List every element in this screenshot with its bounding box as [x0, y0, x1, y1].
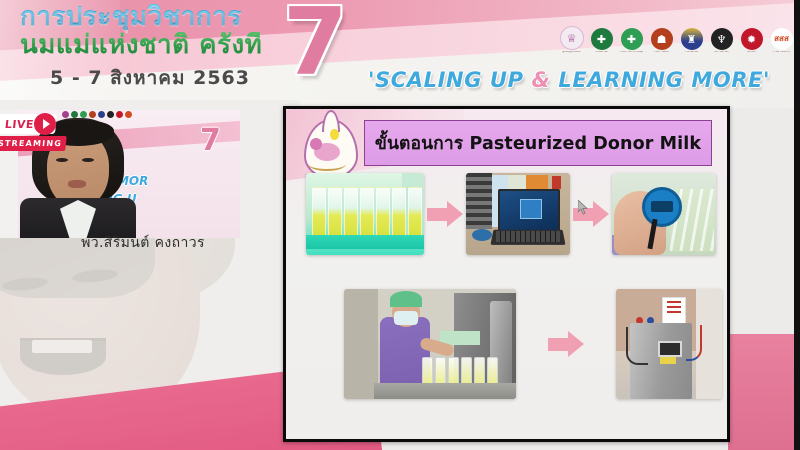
logo-caption: สมาคม	[747, 51, 755, 54]
logo-caption: กรมอนามัย	[595, 51, 608, 54]
process-row-bottom	[344, 289, 722, 399]
speaker-name-caption: พว.สิริมนต์ คงถาวร	[18, 232, 268, 254]
process-arrow-icon	[548, 331, 584, 357]
logo-caption: กระทรวงสาธารณสุข	[620, 51, 643, 54]
pink-accent-right	[728, 334, 800, 450]
presentation-slide: THAILAND HUMAN MILK BANK ขั้นตอนการ Past…	[286, 109, 727, 439]
logo-red-seal-icon: ✹	[741, 28, 763, 50]
streaming-label: STREAMING	[0, 136, 67, 151]
logo-caption: กรมการแพทย์	[654, 51, 670, 54]
logo-university-icon: ♆	[711, 28, 733, 50]
conference-tagline: 'SCALING UP & LEARNING MORE'	[368, 68, 770, 92]
logo-thaihealth-icon: สสส	[771, 28, 793, 50]
edition-number-7: 7	[283, 0, 348, 89]
conference-title-line2: นมแม่แห่งชาติ ครั้งที่	[20, 32, 310, 59]
sponsor-logo: ♆ มหาวิทยาลัย	[709, 28, 734, 54]
poster-logo-strip	[62, 111, 132, 118]
tagline-part-2: LEARNING MORE'	[550, 68, 770, 92]
mouse-cursor-icon	[578, 200, 589, 215]
logo-ministry-health-2-icon: ✚	[621, 28, 643, 50]
logo-caption: มหาวิทยาลัย	[714, 51, 728, 54]
tagline-ampersand: &	[532, 68, 551, 92]
logo-royal-college-icon: ♜	[681, 28, 703, 50]
photo-nurse-loading-bottles	[344, 289, 516, 399]
sponsor-logo: ♜ ราชวิทยาลัย	[679, 28, 704, 54]
conference-title-line1: การประชุมวิชาการ	[20, 4, 310, 30]
logo-thai-emblem-icon: ☗	[651, 28, 673, 50]
tagline-part-1: 'SCALING UP	[368, 68, 532, 92]
sponsor-logo: ✹ สมาคม	[739, 28, 764, 54]
photo-hand-thermometer	[612, 173, 716, 255]
process-arrow-icon	[427, 201, 463, 227]
conference-date: 5 - 7 สิงหาคม 2563	[20, 63, 280, 93]
sponsor-logo: ✚ กระทรวงสาธารณสุข	[619, 28, 644, 54]
logo-caption: ราชวิทยาลัย	[685, 51, 699, 54]
screen: การประชุมวิชาการ นมแม่แห่งชาติ ครั้งที่ …	[0, 0, 800, 450]
sponsor-logo: ☗ กรมการแพทย์	[649, 28, 674, 54]
conference-title-block: การประชุมวิชาการ นมแม่แห่งชาติ ครั้งที่ …	[20, 4, 310, 93]
poster-edition-number: 7	[200, 126, 221, 156]
conference-header-banner: การประชุมวิชาการ นมแม่แห่งชาติ ครั้งที่ …	[0, 0, 800, 108]
slide-title-text: ขั้นตอนการ Pasteurized Donor Milk	[375, 129, 701, 157]
screen-right-edge	[794, 0, 800, 450]
logo-caption: THAI HEALTH	[773, 51, 790, 54]
live-streaming-badge: LIVE STREAMING	[0, 114, 68, 154]
sponsor-logo-row: ♕ มูลนิธิศูนย์นมแม่ ✚ กรมอนามัย ✚ กระทรว…	[559, 26, 794, 54]
play-icon	[34, 113, 56, 135]
sponsor-logo: ✚ กรมอนามัย	[589, 28, 614, 54]
sponsor-logo: สสส THAI HEALTH	[769, 28, 794, 54]
logo-royal-patronage-icon: ♕	[560, 26, 584, 50]
logo-ministry-health-1-icon: ✚	[591, 28, 613, 50]
live-stream-video-panel[interactable]: การประชุมวิชาการ นมแม่แห่งชาติ ครั้งที่ …	[0, 110, 240, 238]
sponsor-logo: ♕ มูลนิธิศูนย์นมแม่	[559, 26, 584, 54]
photo-pasteurizer-machine	[616, 289, 722, 399]
slide-title-banner: ขั้นตอนการ Pasteurized Donor Milk	[364, 120, 712, 166]
photo-laptop-workstation	[466, 173, 570, 255]
presentation-slide-frame[interactable]: THAILAND HUMAN MILK BANK ขั้นตอนการ Past…	[283, 106, 730, 442]
process-row-top	[306, 173, 716, 255]
logo-caption: มูลนิธิศูนย์นมแม่	[562, 51, 580, 54]
photo-milk-bottles-crate	[306, 173, 424, 255]
